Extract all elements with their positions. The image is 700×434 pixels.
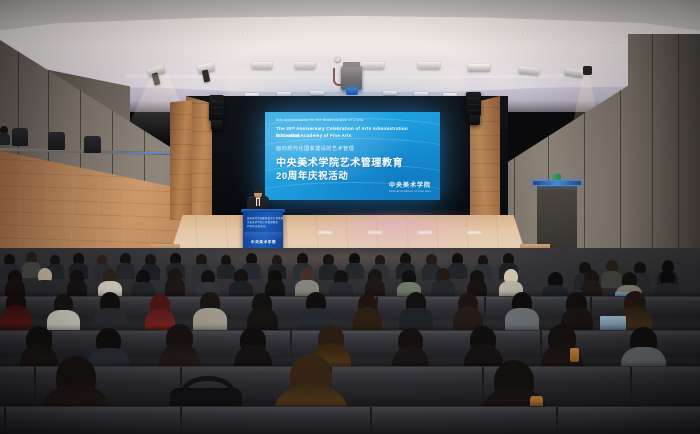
speaker-grill-line (211, 107, 222, 108)
recessed-downlight (612, 38, 617, 43)
ceiling-track-light (362, 62, 384, 69)
balcony-seat (12, 128, 28, 146)
screen-chinese-subtitle: 面向现代化国家建设的艺术管理 (276, 145, 432, 152)
speaker-grill-line (468, 110, 479, 111)
stage-floor-light (467, 231, 481, 234)
seat-divider (4, 407, 6, 434)
screen-english-title-line2: in Central Academy of Fine Arts (276, 133, 432, 140)
soffit-light (310, 91, 324, 95)
ceiling-projector (341, 66, 362, 90)
soffit-light (383, 91, 397, 95)
speaker-grill-line (211, 101, 222, 102)
pa-speaker-right-lower (469, 115, 480, 125)
shoulder (0, 133, 10, 145)
projector-lens (346, 88, 358, 95)
projection-screen: Arts Administration for the Modernizatio… (265, 112, 440, 200)
screen-english-subtitle: Arts Administration for the Modernizatio… (276, 118, 432, 123)
stage-floor-light (418, 231, 432, 234)
stage-left-wood-column (170, 100, 192, 220)
ceiling-track-light (418, 62, 440, 69)
podium-logo: 中央美术学院 (251, 240, 276, 245)
screen-logo-chinese: 中央美术学院 (389, 180, 431, 189)
speaker-grill-line (211, 113, 222, 114)
balcony-seat (48, 132, 65, 150)
bag-strap (182, 376, 234, 405)
screen-institution-logo: 中央美术学院 Central Academy of Fine Arts (389, 180, 431, 193)
speaker-grill-line (468, 98, 479, 99)
podium-text-line3: 20周年庆祝活动 (247, 224, 266, 228)
ceiling-camera-icon (334, 56, 341, 62)
seat-divider (180, 407, 182, 434)
recessed-downlight (243, 31, 248, 36)
speaker-tie (257, 199, 259, 206)
ceiling-track-light (252, 62, 272, 69)
seat-divider (370, 407, 372, 434)
balcony-seat (84, 136, 101, 153)
speaker-grill-line (468, 104, 479, 105)
podium-highlight-band (244, 232, 282, 240)
seat-row-front (0, 406, 700, 434)
auditorium-photo: Arts Administration for the Modernizatio… (0, 0, 700, 434)
recessed-downlight (523, 31, 528, 36)
pa-speaker-left-lower (211, 120, 223, 130)
ceiling-track-light (468, 64, 490, 71)
door-exit-sign-icon (552, 174, 561, 180)
ceiling-track-light (295, 62, 315, 69)
recessed-downlight (36, 41, 41, 46)
seat-divider (556, 407, 558, 434)
pa-speaker-left (209, 95, 224, 121)
stage-floor-light (368, 231, 382, 234)
doorway-blue-light (533, 181, 581, 185)
stage-floor-light (318, 231, 332, 234)
wall-spotlight (583, 66, 592, 75)
speaker-head (254, 189, 262, 198)
screen-logo-english: Central Academy of Fine Arts (389, 190, 431, 193)
screen-chinese-title-line1: 中央美术学院艺术管理教育 (276, 154, 432, 169)
pa-speaker-right (466, 92, 481, 116)
